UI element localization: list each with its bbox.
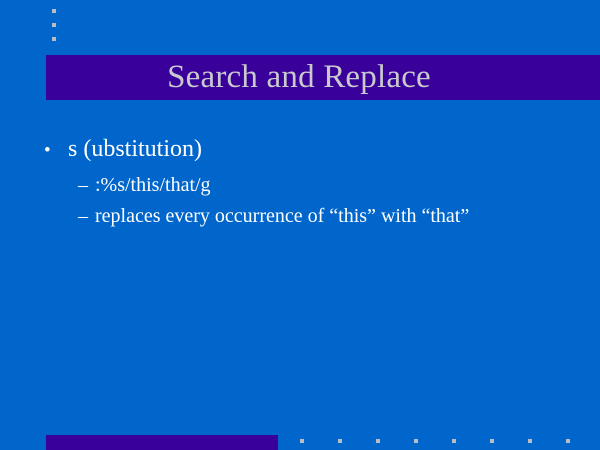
footer-accent-bar [46,435,278,450]
decoration-dot-icon [376,439,380,443]
decoration-dot-icon [52,9,56,13]
decoration-dot-icon [490,439,494,443]
list-item: – replaces every occurrence of “this” wi… [0,201,600,231]
footer-dot-decoration [300,439,590,445]
decoration-dot-icon [566,439,570,443]
top-left-dot-decoration [52,9,62,49]
slide-body: • s (ubstitution) – :%s/this/that/g – re… [0,134,600,232]
decoration-dot-icon [52,37,56,41]
decoration-dot-icon [300,439,304,443]
list-item: • s (ubstitution) [0,134,600,166]
dash-marker-icon: – [78,201,95,231]
list-item-label: :%s/this/that/g [95,170,211,200]
list-item: – :%s/this/that/g [0,170,600,200]
bullet-marker-icon: • [44,136,68,166]
decoration-dot-icon [414,439,418,443]
slide-canvas: Search and Replace • s (ubstitution) – :… [0,0,600,450]
list-item-label: replaces every occurrence of “this” with… [95,201,469,231]
decoration-dot-icon [528,439,532,443]
decoration-dot-icon [52,23,56,27]
list-item-label: s (ubstitution) [68,134,202,164]
title-bar: Search and Replace [46,55,600,100]
decoration-dot-icon [452,439,456,443]
decoration-dot-icon [338,439,342,443]
dash-marker-icon: – [78,170,95,200]
page-title: Search and Replace [167,61,479,94]
